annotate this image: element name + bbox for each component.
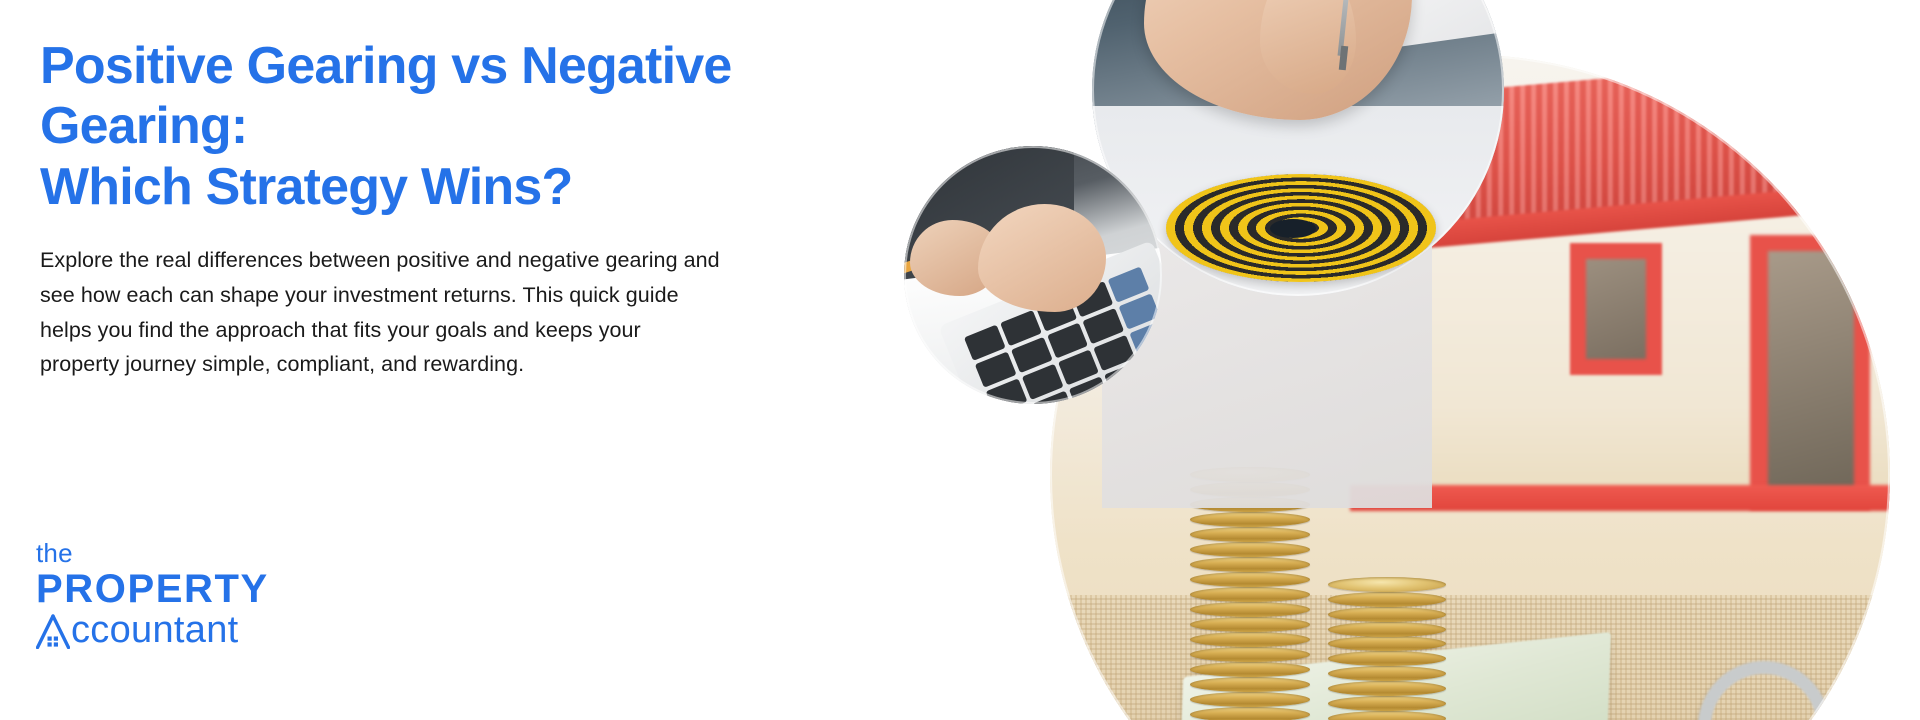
coin [1190, 542, 1310, 557]
coin [1190, 707, 1310, 720]
coin [1328, 622, 1446, 637]
logo-accountant-text: ccountant [71, 611, 238, 649]
coin [1190, 647, 1310, 662]
coin [1328, 607, 1446, 622]
coin [1328, 651, 1446, 666]
coin [1328, 681, 1446, 696]
coin [1190, 602, 1310, 617]
logo-line-property: PROPERTY [36, 569, 269, 609]
hero-text-column: Positive Gearing vs Negative Gearing: Wh… [40, 36, 760, 382]
house-window-glass [1586, 259, 1646, 359]
coin [1190, 572, 1310, 587]
coin [1328, 666, 1446, 681]
coin [1190, 587, 1310, 602]
coin [1190, 527, 1310, 542]
logo-line-accountant: ccountant [36, 611, 269, 649]
calculator-photo-circle [904, 146, 1162, 404]
hero-banner: Positive Gearing vs Negative Gearing: Wh… [0, 0, 1920, 720]
coin [1190, 512, 1310, 527]
dartboard-bullseye [1270, 219, 1316, 238]
coin [1190, 617, 1310, 632]
coin [1190, 557, 1310, 572]
logo-line-the: the [36, 540, 269, 566]
coin [1328, 711, 1446, 720]
coin [1328, 592, 1446, 607]
hero-subcopy: Explore the real differences between pos… [40, 243, 722, 382]
coin [1190, 677, 1310, 692]
coin-stack-short [1328, 577, 1446, 720]
coin [1190, 692, 1310, 707]
page-title: Positive Gearing vs Negative Gearing: Wh… [40, 36, 760, 217]
house-door-glass [1768, 251, 1854, 496]
coin [1328, 636, 1446, 651]
coin [1190, 632, 1310, 647]
coin [1328, 577, 1446, 592]
house-roof-a-icon [36, 613, 70, 649]
coin [1190, 662, 1310, 677]
coin [1328, 696, 1446, 711]
hero-image-collage [870, 0, 1920, 720]
brand-logo[interactable]: the PROPERTY ccountant [36, 540, 269, 649]
